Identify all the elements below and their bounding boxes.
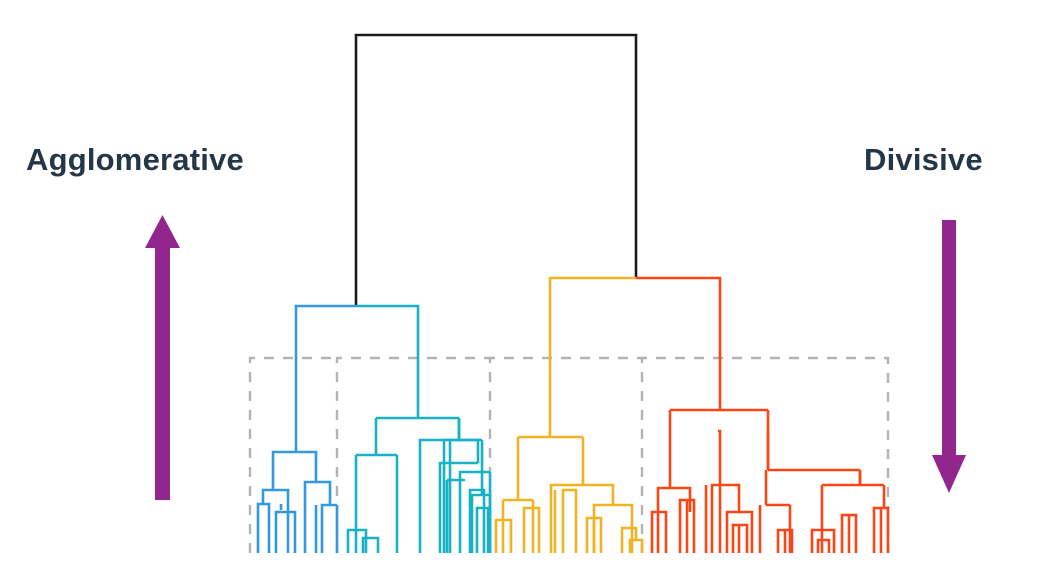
- cluster-box-3: [490, 358, 642, 553]
- cluster-2-teal-right-block: [450, 418, 500, 553]
- cluster-box-1: [250, 358, 337, 553]
- root-link: [356, 35, 636, 306]
- cluster-1-blue-links: [258, 306, 356, 553]
- divisive-arrow: [932, 220, 966, 493]
- cluster-3-orange-links: [496, 278, 642, 553]
- agglomerative-arrow: [145, 215, 180, 500]
- dendrogram-svg: [0, 0, 1039, 577]
- cluster-boxes: [250, 358, 888, 553]
- figure-canvas: Agglomerative Divisive: [0, 0, 1039, 577]
- cluster-2-teal-links: [348, 306, 490, 553]
- cluster-4-red-links: [636, 278, 888, 553]
